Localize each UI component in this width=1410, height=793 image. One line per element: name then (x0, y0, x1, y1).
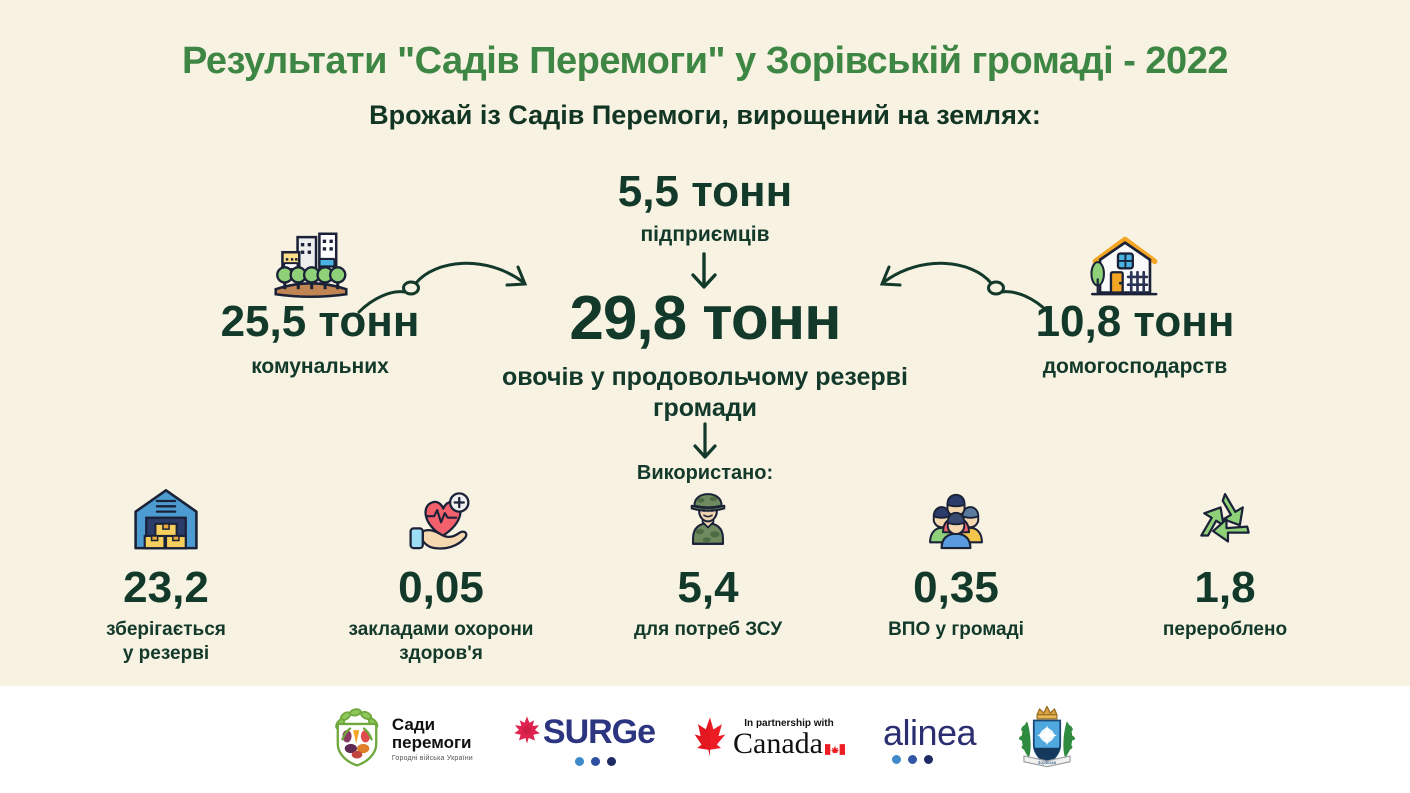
alinea-wordmark: alinea (883, 715, 976, 751)
usage-item-idp-value: 0,35 (831, 566, 1081, 610)
canada-text-block: In partnership with Canada (733, 718, 845, 761)
usage-item-army-caption: для потреб ЗСУ (583, 618, 833, 642)
surge-dot-1 (575, 757, 584, 766)
surge-wordmark: SURGe (543, 715, 655, 749)
surge-dot-2 (591, 757, 600, 766)
stat-households-caption: домогосподарств (960, 354, 1310, 380)
sady-line-2: перемоги (392, 734, 473, 752)
usage-caption-line-1: для потреб ЗСУ (583, 618, 833, 642)
logo-coat-of-arms: Зорівська (1014, 701, 1080, 778)
logo-canada: In partnership with Canada (693, 715, 845, 764)
page-title: Результати "Садів Перемоги" у Зорівській… (0, 40, 1410, 83)
svg-text:Зорівська: Зорівська (1038, 760, 1057, 765)
usage-item-idp: 0,35 ВПО у громаді (831, 484, 1081, 642)
canada-flag-icon (825, 731, 845, 761)
usage-caption-line-1: перероблено (1100, 618, 1350, 642)
usage-item-army-value: 5,4 (583, 566, 833, 610)
warehouse-icon (41, 484, 291, 556)
usage-item-recycled-caption: перероблено (1100, 618, 1350, 642)
usage-item-idp-caption: ВПО у громаді (831, 618, 1081, 642)
usage-item-recycled: 1,8 перероблено (1100, 484, 1350, 642)
usage-item-recycled-value: 1,8 (1100, 566, 1350, 610)
down-arrow-icon-2 (684, 420, 726, 466)
stat-reserve-total-value: 29,8 тонн (460, 288, 950, 350)
heart-in-hand-icon (316, 484, 566, 556)
usage-caption-line-1: ВПО у громаді (831, 618, 1081, 642)
stat-entrepreneurs: 5,5 тонн підприємців (505, 170, 905, 248)
people-group-icon (831, 484, 1081, 556)
footer-logo-bar: Сади перемоги Городні війська України (0, 686, 1410, 793)
usage-item-reserve: 23,2 зберігається у резерві (41, 484, 291, 666)
page-subtitle: Врожай із Садів Перемоги, вирощений на з… (0, 100, 1410, 131)
stat-entrepreneurs-value: 5,5 тонн (505, 170, 905, 214)
sady-tagline: Городні війська України (392, 755, 473, 762)
municipal-buildings-icon (268, 222, 354, 306)
stat-municipal-caption: комунальних (150, 354, 490, 380)
stat-entrepreneurs-caption: підприємців (505, 222, 905, 248)
hromada-coat-of-arms-icon: Зорівська (1014, 701, 1080, 778)
stat-reserve-total-caption: овочів у продовольчому резерві громади (460, 362, 950, 423)
usage-caption-line-2: у резерві (41, 642, 291, 666)
alinea-dots (892, 755, 933, 764)
usage-item-reserve-value: 23,2 (41, 566, 291, 610)
logo-alinea: alinea (883, 715, 976, 764)
surge-dot-3 (607, 757, 616, 766)
sady-text-block: Сади перемоги Городні війська України (392, 716, 473, 762)
surge-dots (575, 757, 616, 766)
house-icon (1086, 225, 1164, 307)
maple-leaf-icon (511, 714, 543, 751)
usage-item-healthcare-value: 0,05 (316, 566, 566, 610)
alinea-dot-1 (892, 755, 901, 764)
usage-item-army: 5,4 для потреб ЗСУ (583, 484, 833, 642)
canada-wordmark: Canada (733, 729, 823, 759)
soldier-icon (583, 484, 833, 556)
usage-caption-line-2: здоров'я (316, 642, 566, 666)
logo-surge: SURGe (511, 714, 655, 766)
stat-reserve-total: 29,8 тонн овочів у продовольчому резерві… (460, 288, 950, 423)
infographic-page: Результати "Садів Перемоги" у Зорівській… (0, 0, 1410, 793)
usage-item-healthcare-caption: закладами охорони здоров'я (316, 618, 566, 666)
recycle-icon (1100, 484, 1350, 556)
vegetable-shield-icon (330, 707, 384, 772)
alinea-dot-3 (924, 755, 933, 764)
canada-maple-leaf-icon (693, 715, 727, 764)
alinea-dot-2 (908, 755, 917, 764)
used-label: Використано: (555, 462, 855, 485)
usage-item-reserve-caption: зберігається у резерві (41, 618, 291, 666)
usage-item-healthcare: 0,05 закладами охорони здоров'я (316, 484, 566, 666)
logo-sady-peremohy: Сади перемоги Городні війська України (330, 707, 473, 772)
usage-caption-line-1: зберігається (41, 618, 291, 642)
usage-caption-line-1: закладами охорони (316, 618, 566, 642)
sady-line-1: Сади (392, 716, 473, 734)
